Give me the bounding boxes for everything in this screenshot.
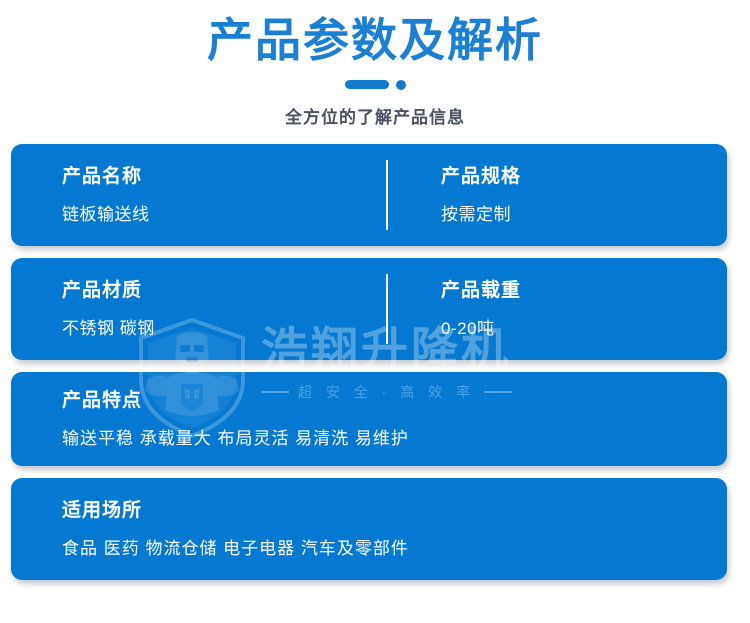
spec-field: 产品载重 0-20吨 bbox=[441, 258, 521, 360]
spec-value: 不锈钢 碳钢 bbox=[62, 320, 155, 337]
spec-label: 产品材质 bbox=[62, 281, 155, 300]
spec-card: 适用场所 食品 医药 物流仓储 电子电器 汽车及零部件 bbox=[11, 478, 727, 580]
title-ornament bbox=[0, 79, 750, 91]
spec-value: 食品 医药 物流仓储 电子电器 汽车及零部件 bbox=[62, 540, 707, 557]
product-spec-page: 产品参数及解析 全方位的了解产品信息 产品名称 链板输送线 产品规格 按需定制 bbox=[0, 0, 750, 623]
spec-field: 产品材质 不锈钢 碳钢 bbox=[62, 258, 155, 360]
spec-label: 产品名称 bbox=[62, 167, 150, 186]
spec-label: 产品载重 bbox=[441, 281, 521, 300]
spec-card: 产品特点 输送平稳 承载量大 布局灵活 易清洗 易维护 bbox=[11, 372, 727, 466]
page-subtitle: 全方位的了解产品信息 bbox=[0, 103, 750, 128]
page-title: 产品参数及解析 bbox=[0, 14, 750, 67]
spec-field: 产品名称 链板输送线 bbox=[62, 144, 150, 246]
ornament-bar-icon bbox=[345, 80, 389, 89]
column-divider bbox=[386, 160, 388, 230]
spec-card: 产品名称 链板输送线 产品规格 按需定制 bbox=[11, 144, 727, 246]
spec-field: 产品特点 输送平稳 承载量大 布局灵活 易清洗 易维护 bbox=[62, 372, 707, 466]
spec-value: 输送平稳 承载量大 布局灵活 易清洗 易维护 bbox=[62, 430, 707, 447]
column-divider bbox=[386, 274, 388, 344]
ornament-dot-icon bbox=[396, 80, 406, 90]
spec-value: 0-20吨 bbox=[441, 320, 521, 337]
spec-label: 适用场所 bbox=[62, 501, 707, 520]
page-header: 产品参数及解析 全方位的了解产品信息 bbox=[0, 0, 750, 128]
spec-label: 产品特点 bbox=[62, 391, 707, 410]
spec-label: 产品规格 bbox=[441, 167, 521, 186]
spec-value: 链板输送线 bbox=[62, 206, 150, 223]
spec-value: 按需定制 bbox=[441, 206, 521, 223]
spec-field: 产品规格 按需定制 bbox=[441, 144, 521, 246]
spec-field: 适用场所 食品 医药 物流仓储 电子电器 汽车及零部件 bbox=[62, 478, 707, 580]
spec-card: 产品材质 不锈钢 碳钢 产品载重 0-20吨 bbox=[11, 258, 727, 360]
